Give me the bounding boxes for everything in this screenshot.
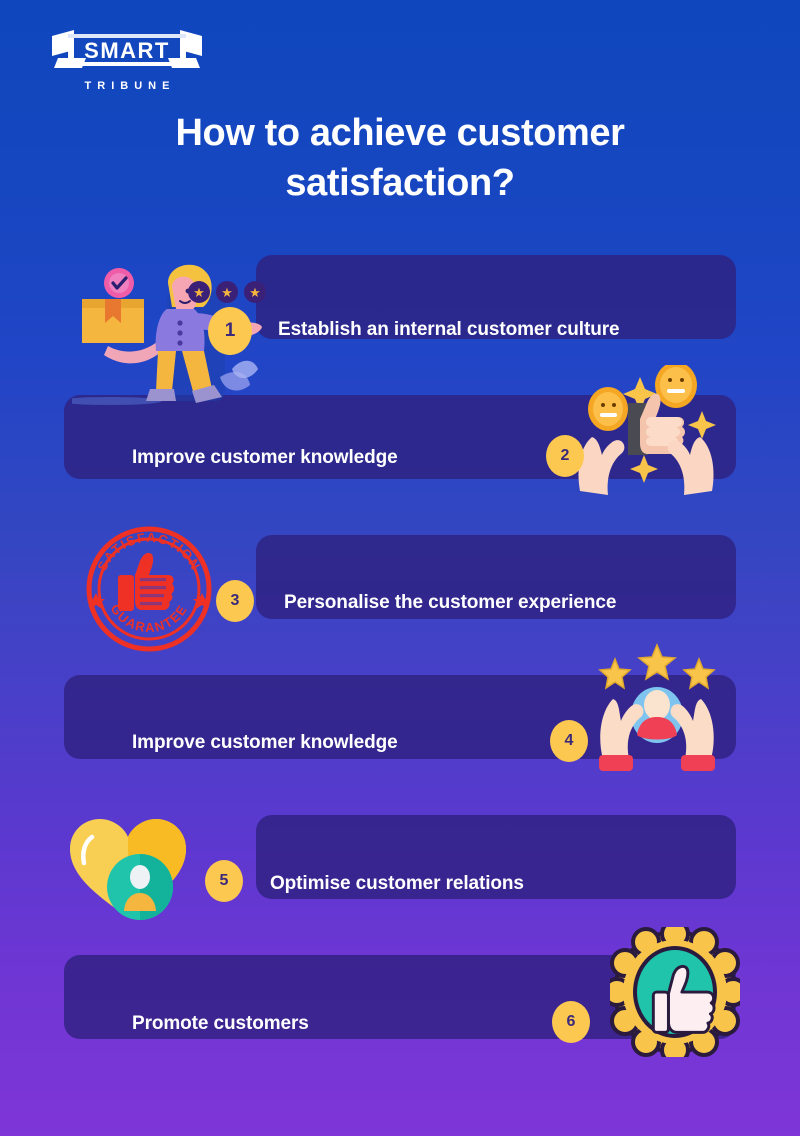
logo-subtitle: TRIBUNE <box>52 80 202 92</box>
step-number-badge-4: 4 <box>550 720 588 762</box>
satisfaction-guarantee-stamp-icon: SATISFACTION GUARANTEE <box>82 523 217 653</box>
step-number-badge-6: 6 <box>552 1001 590 1043</box>
step-row-5[interactable]: 5 Optimise customer relations <box>0 815 800 955</box>
step-row-6[interactable]: 6 Promote customers <box>0 955 800 1095</box>
step-label-5: Optimise customer relations <box>270 873 524 895</box>
stamp-bottom-text: GUARANTEE <box>108 601 191 635</box>
star-icon: ★ <box>188 281 210 303</box>
star-icon: ★ <box>244 281 266 303</box>
star-icon: ★ <box>216 281 238 303</box>
step-number-badge-1: 1 <box>208 307 252 355</box>
stamp-top-text: SATISFACTION <box>94 530 203 573</box>
rating-stars: ★ ★ ★ <box>188 281 266 303</box>
step-number-badge-5: 5 <box>205 860 243 902</box>
page-title-line-1: How to achieve customer <box>175 112 624 154</box>
step-row-1[interactable]: ★ ★ ★ 1 Establish an internal customer c… <box>0 255 800 395</box>
step-row-2[interactable]: 2 Improve customer knowledge <box>0 395 800 535</box>
step-row-3[interactable]: SATISFACTION GUARANTEE 3 Personalise the… <box>0 535 800 675</box>
logo-wordmark: SMART <box>84 38 170 63</box>
step-row-4[interactable]: 4 Improve customer knowledge <box>0 675 800 815</box>
step-label-4: Improve customer knowledge <box>132 732 398 754</box>
page-title-line-2: satisfaction? <box>285 162 514 204</box>
heart-with-user-icon <box>62 807 202 927</box>
step-number-badge-2: 2 <box>546 435 584 477</box>
page-title: How to achieve customer satisfaction? <box>100 108 700 208</box>
steps-list: ★ ★ ★ 1 Establish an internal customer c… <box>0 255 800 1095</box>
svg-text:SATISFACTION: SATISFACTION <box>94 530 203 573</box>
svg-text:GUARANTEE: GUARANTEE <box>108 601 191 635</box>
step-label-6: Promote customers <box>132 1013 309 1035</box>
step-label-3: Personalise the customer experience <box>284 592 616 614</box>
step-label-2: Improve customer knowledge <box>132 447 398 469</box>
banner-ribbon-icon: SMART <box>52 28 202 72</box>
step-label-1: Establish an internal customer culture <box>278 319 619 341</box>
step-number-badge-3: 3 <box>216 580 254 622</box>
brand-logo[interactable]: SMART TRIBUNE <box>52 28 202 92</box>
